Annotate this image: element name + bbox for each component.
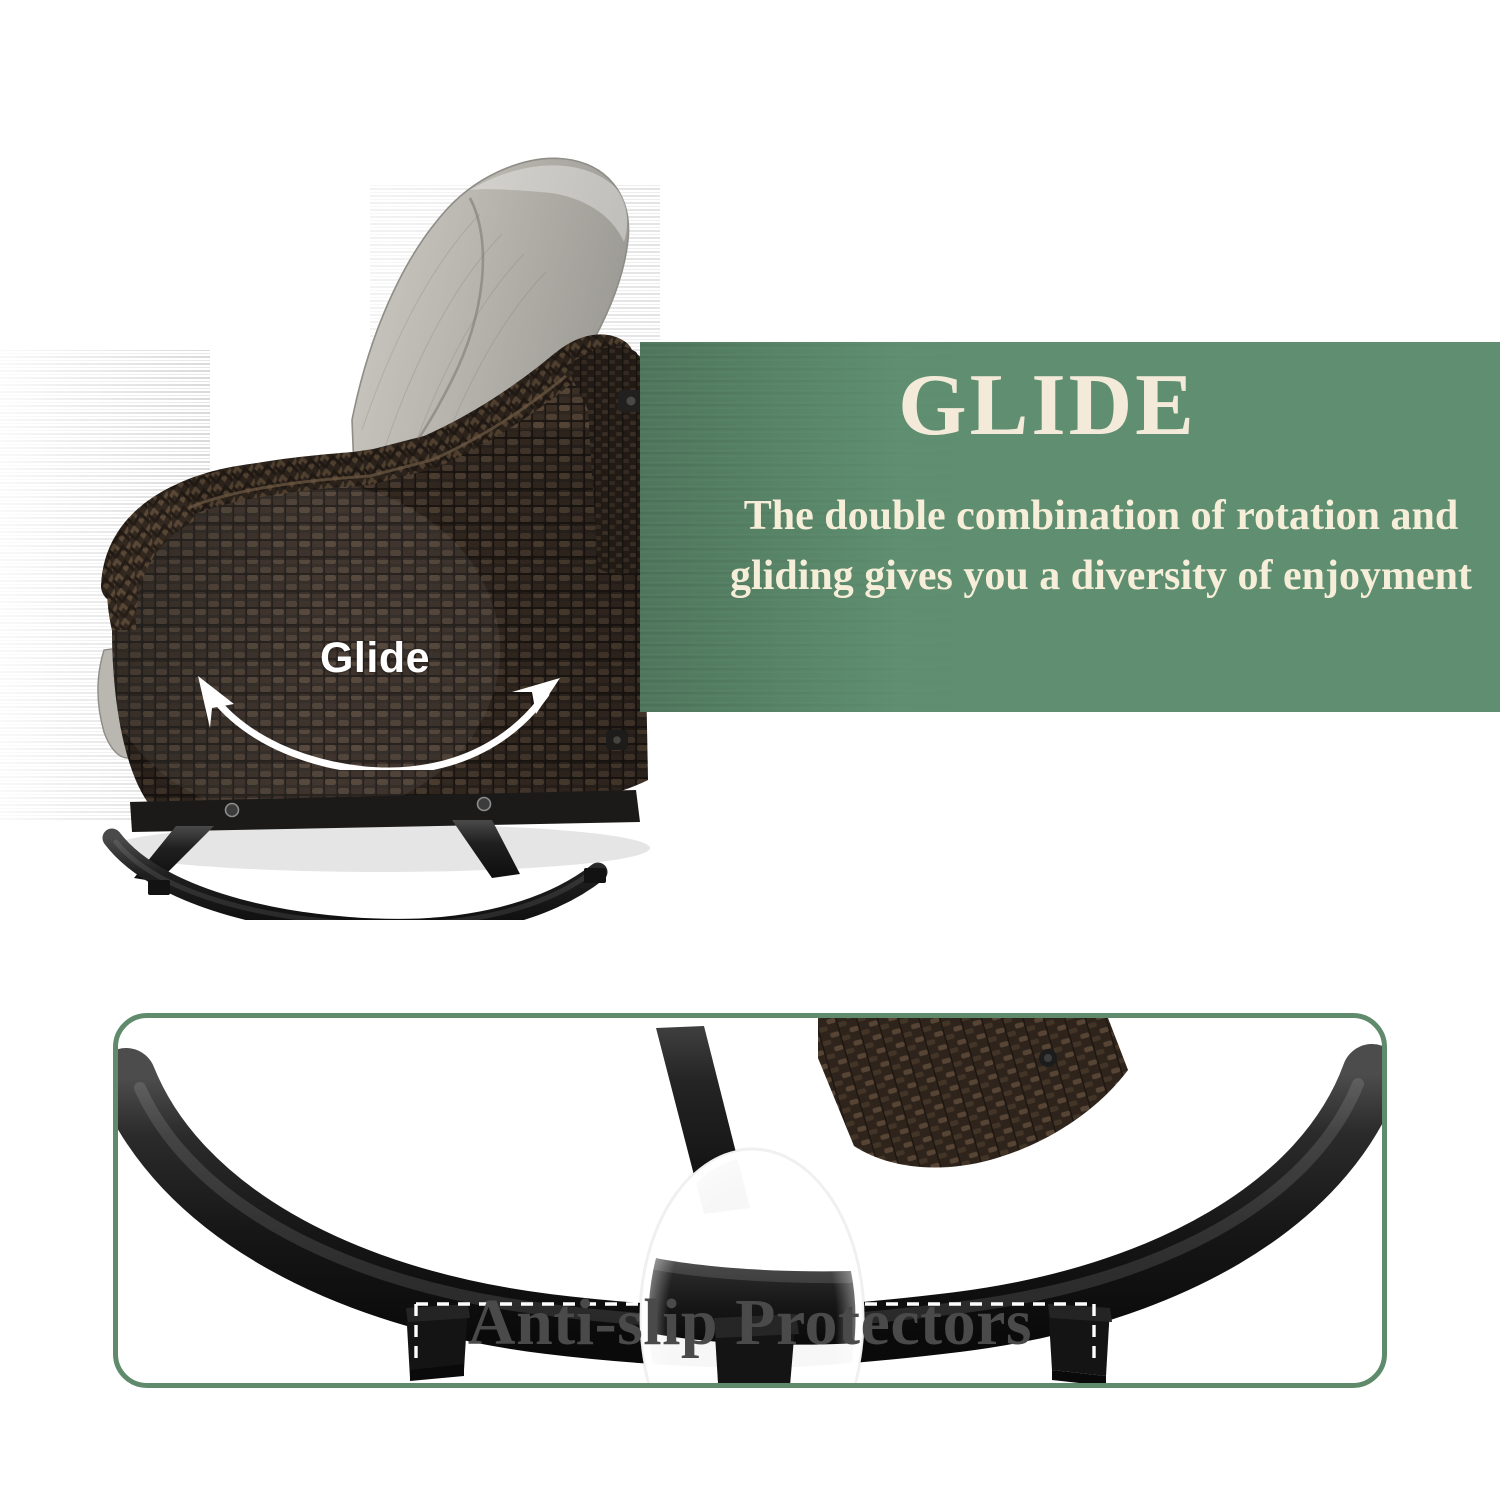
- glide-description: The double combination of rotation and g…: [710, 487, 1500, 606]
- anti-slip-caption: Anti-slip Protectors: [118, 1285, 1382, 1361]
- glide-text-panel: GLIDE The double combination of rotation…: [640, 342, 1500, 712]
- swivel-glider-chair-photo: [0, 90, 700, 920]
- glide-arrow-label: Glide: [150, 634, 600, 683]
- glide-annotation: Glide: [150, 630, 600, 770]
- product-feature-graphic: GLIDE The double combination of rotation…: [0, 0, 1500, 1500]
- anti-slip-detail-panel: Anti-slip Protectors: [113, 1013, 1387, 1388]
- glide-feature-section: GLIDE The double combination of rotation…: [0, 0, 1500, 960]
- side-hardware-knob: [606, 730, 628, 750]
- wicker-seat-underside: [818, 1018, 1128, 1168]
- glide-heading: GLIDE: [640, 362, 1500, 450]
